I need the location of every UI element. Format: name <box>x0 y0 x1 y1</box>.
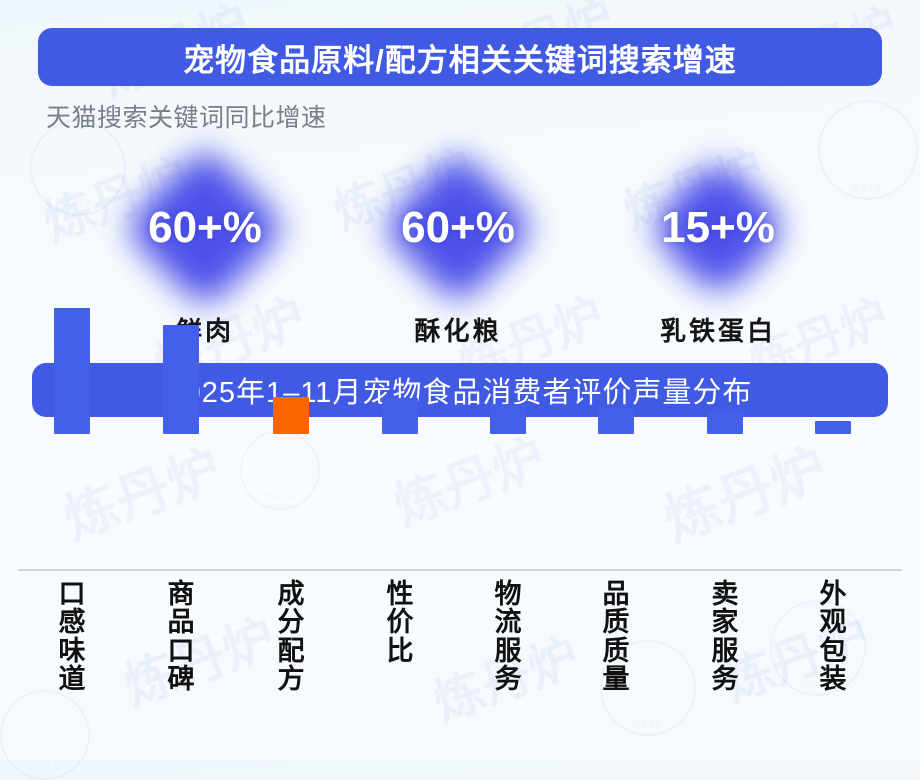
x-axis-labels: 口感味道商品口碑成分配方性价比物流服务品质质量卖家服务外观包装 <box>0 580 920 760</box>
x-axis-label: 外观包装 <box>803 580 863 693</box>
bar-物流服务[interactable] <box>490 404 526 434</box>
metric-badge: 15+%乳铁蛋白 <box>608 140 828 348</box>
x-axis-label: 商品口碑 <box>151 580 211 693</box>
x-axis-label: 性价比 <box>370 580 430 665</box>
badge-label: 酥化粮 <box>348 311 568 348</box>
bar-chart-plot-area <box>0 430 920 575</box>
x-axis-label: 品质质量 <box>586 580 646 693</box>
badge-shape: 60+% <box>348 140 568 315</box>
metric-badge-group: 60+%鲜肉60+%酥化粮15+%乳铁蛋白 <box>0 140 920 350</box>
bar-外观包装[interactable] <box>815 421 851 434</box>
badge-value: 60+% <box>401 203 515 253</box>
main-title-banner: 宠物食品原料/配方相关关键词搜索增速 <box>38 28 882 86</box>
x-axis-label: 卖家服务 <box>695 580 755 693</box>
badge-value: 60+% <box>148 203 262 253</box>
section-title-banner: 2025年1–11月宠物食品消费者评价声量分布 <box>32 363 888 417</box>
x-axis-label: 物流服务 <box>478 580 538 693</box>
badge-shape: 15+% <box>608 140 828 315</box>
x-axis-label: 口感味道 <box>42 580 102 693</box>
section-title-text: 2025年1–11月宠物食品消费者评价声量分布 <box>168 369 753 411</box>
metric-badge: 60+%酥化粮 <box>348 140 568 348</box>
bar-成分配方[interactable] <box>273 397 309 434</box>
bar-商品口碑[interactable] <box>163 325 199 434</box>
badge-label: 鲜肉 <box>95 311 315 348</box>
metric-badge: 60+%鲜肉 <box>95 140 315 348</box>
bar-chart: 口感味道商品口碑成分配方性价比物流服务品质质量卖家服务外观包装 <box>0 430 920 760</box>
badge-value: 15+% <box>661 203 775 253</box>
badge-shape: 60+% <box>95 140 315 315</box>
bar-卖家服务[interactable] <box>707 412 743 434</box>
x-axis-label: 成分配方 <box>261 580 321 693</box>
bar-口感味道[interactable] <box>54 308 90 434</box>
x-axis-line <box>18 569 902 571</box>
badge-label: 乳铁蛋白 <box>608 311 828 348</box>
bar-品质质量[interactable] <box>598 408 634 434</box>
subtitle-text: 天猫搜索关键词同比增速 <box>46 98 327 134</box>
main-title-text: 宠物食品原料/配方相关关键词搜索增速 <box>183 35 737 80</box>
bar-性价比[interactable] <box>382 398 418 434</box>
